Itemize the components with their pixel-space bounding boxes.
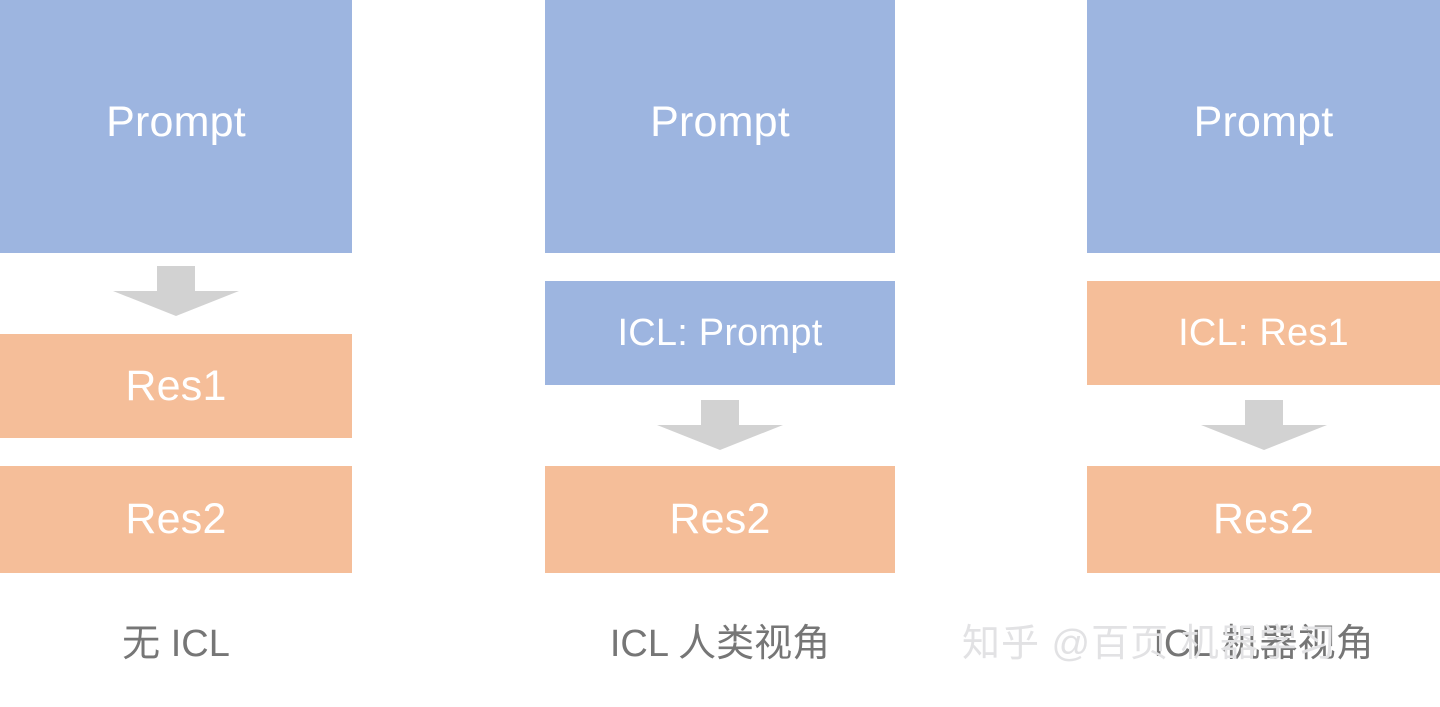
block-icl-prompt: ICL: Prompt	[545, 281, 895, 385]
diagram-canvas: Prompt Res1 Res2 无 ICL Prompt ICL: Promp…	[0, 0, 1440, 707]
block-prompt: Prompt	[545, 0, 895, 253]
block-res2: Res2	[545, 466, 895, 573]
block-res2: Res2	[0, 466, 352, 573]
block-prompt: Prompt	[0, 0, 352, 253]
column-caption-icl-machine-view: ICL 机器视角	[1087, 622, 1440, 668]
block-icl-res1: ICL: Res1	[1087, 281, 1440, 385]
diagram-column-icl-human-view: Prompt ICL: Prompt Res2 ICL 人类视角	[545, 0, 895, 707]
down-arrow-icon	[113, 266, 239, 316]
block-prompt: Prompt	[1087, 0, 1440, 253]
column-caption-no-icl: 无 ICL	[0, 622, 352, 668]
block-res1: Res1	[0, 334, 352, 438]
block-res2: Res2	[1087, 466, 1440, 573]
diagram-column-no-icl: Prompt Res1 Res2 无 ICL	[0, 0, 352, 707]
down-arrow-icon	[1201, 400, 1327, 450]
column-caption-icl-human-view: ICL 人类视角	[545, 622, 895, 668]
diagram-column-icl-machine-view: Prompt ICL: Res1 Res2 ICL 机器视角	[1087, 0, 1440, 707]
down-arrow-icon	[657, 400, 783, 450]
